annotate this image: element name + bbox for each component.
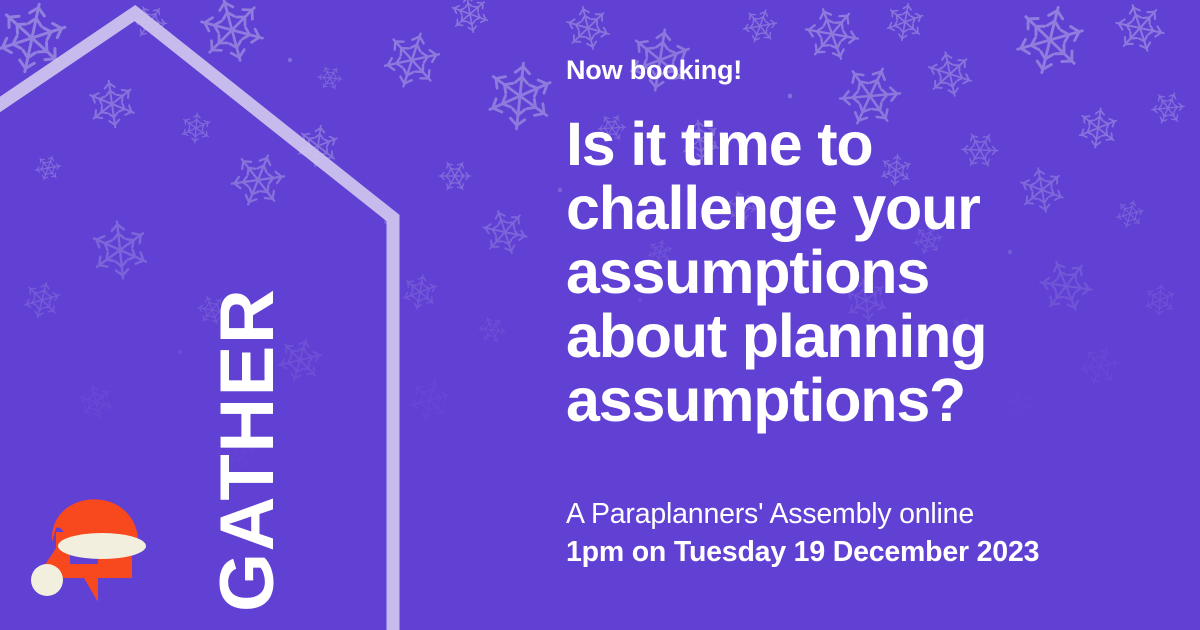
event-name: A Paraplanners' Assembly online	[566, 496, 1126, 534]
eyebrow-label: Now booking!	[566, 56, 742, 86]
gather-wordmark: GATHER	[210, 288, 286, 612]
poster-text-content: Now booking! Is it time to challenge you…	[566, 0, 1166, 630]
page-title: Is it time to challenge your assumptions…	[566, 112, 1086, 432]
event-datetime: 1pm on Tuesday 19 December 2023	[566, 534, 1126, 572]
event-details: A Paraplanners' Assembly online 1pm on T…	[566, 496, 1126, 571]
event-promo-poster: GATHER Now booking! Is it time to challe…	[0, 0, 1200, 630]
speech-bubble-with-santa-hat-icon	[22, 490, 162, 620]
